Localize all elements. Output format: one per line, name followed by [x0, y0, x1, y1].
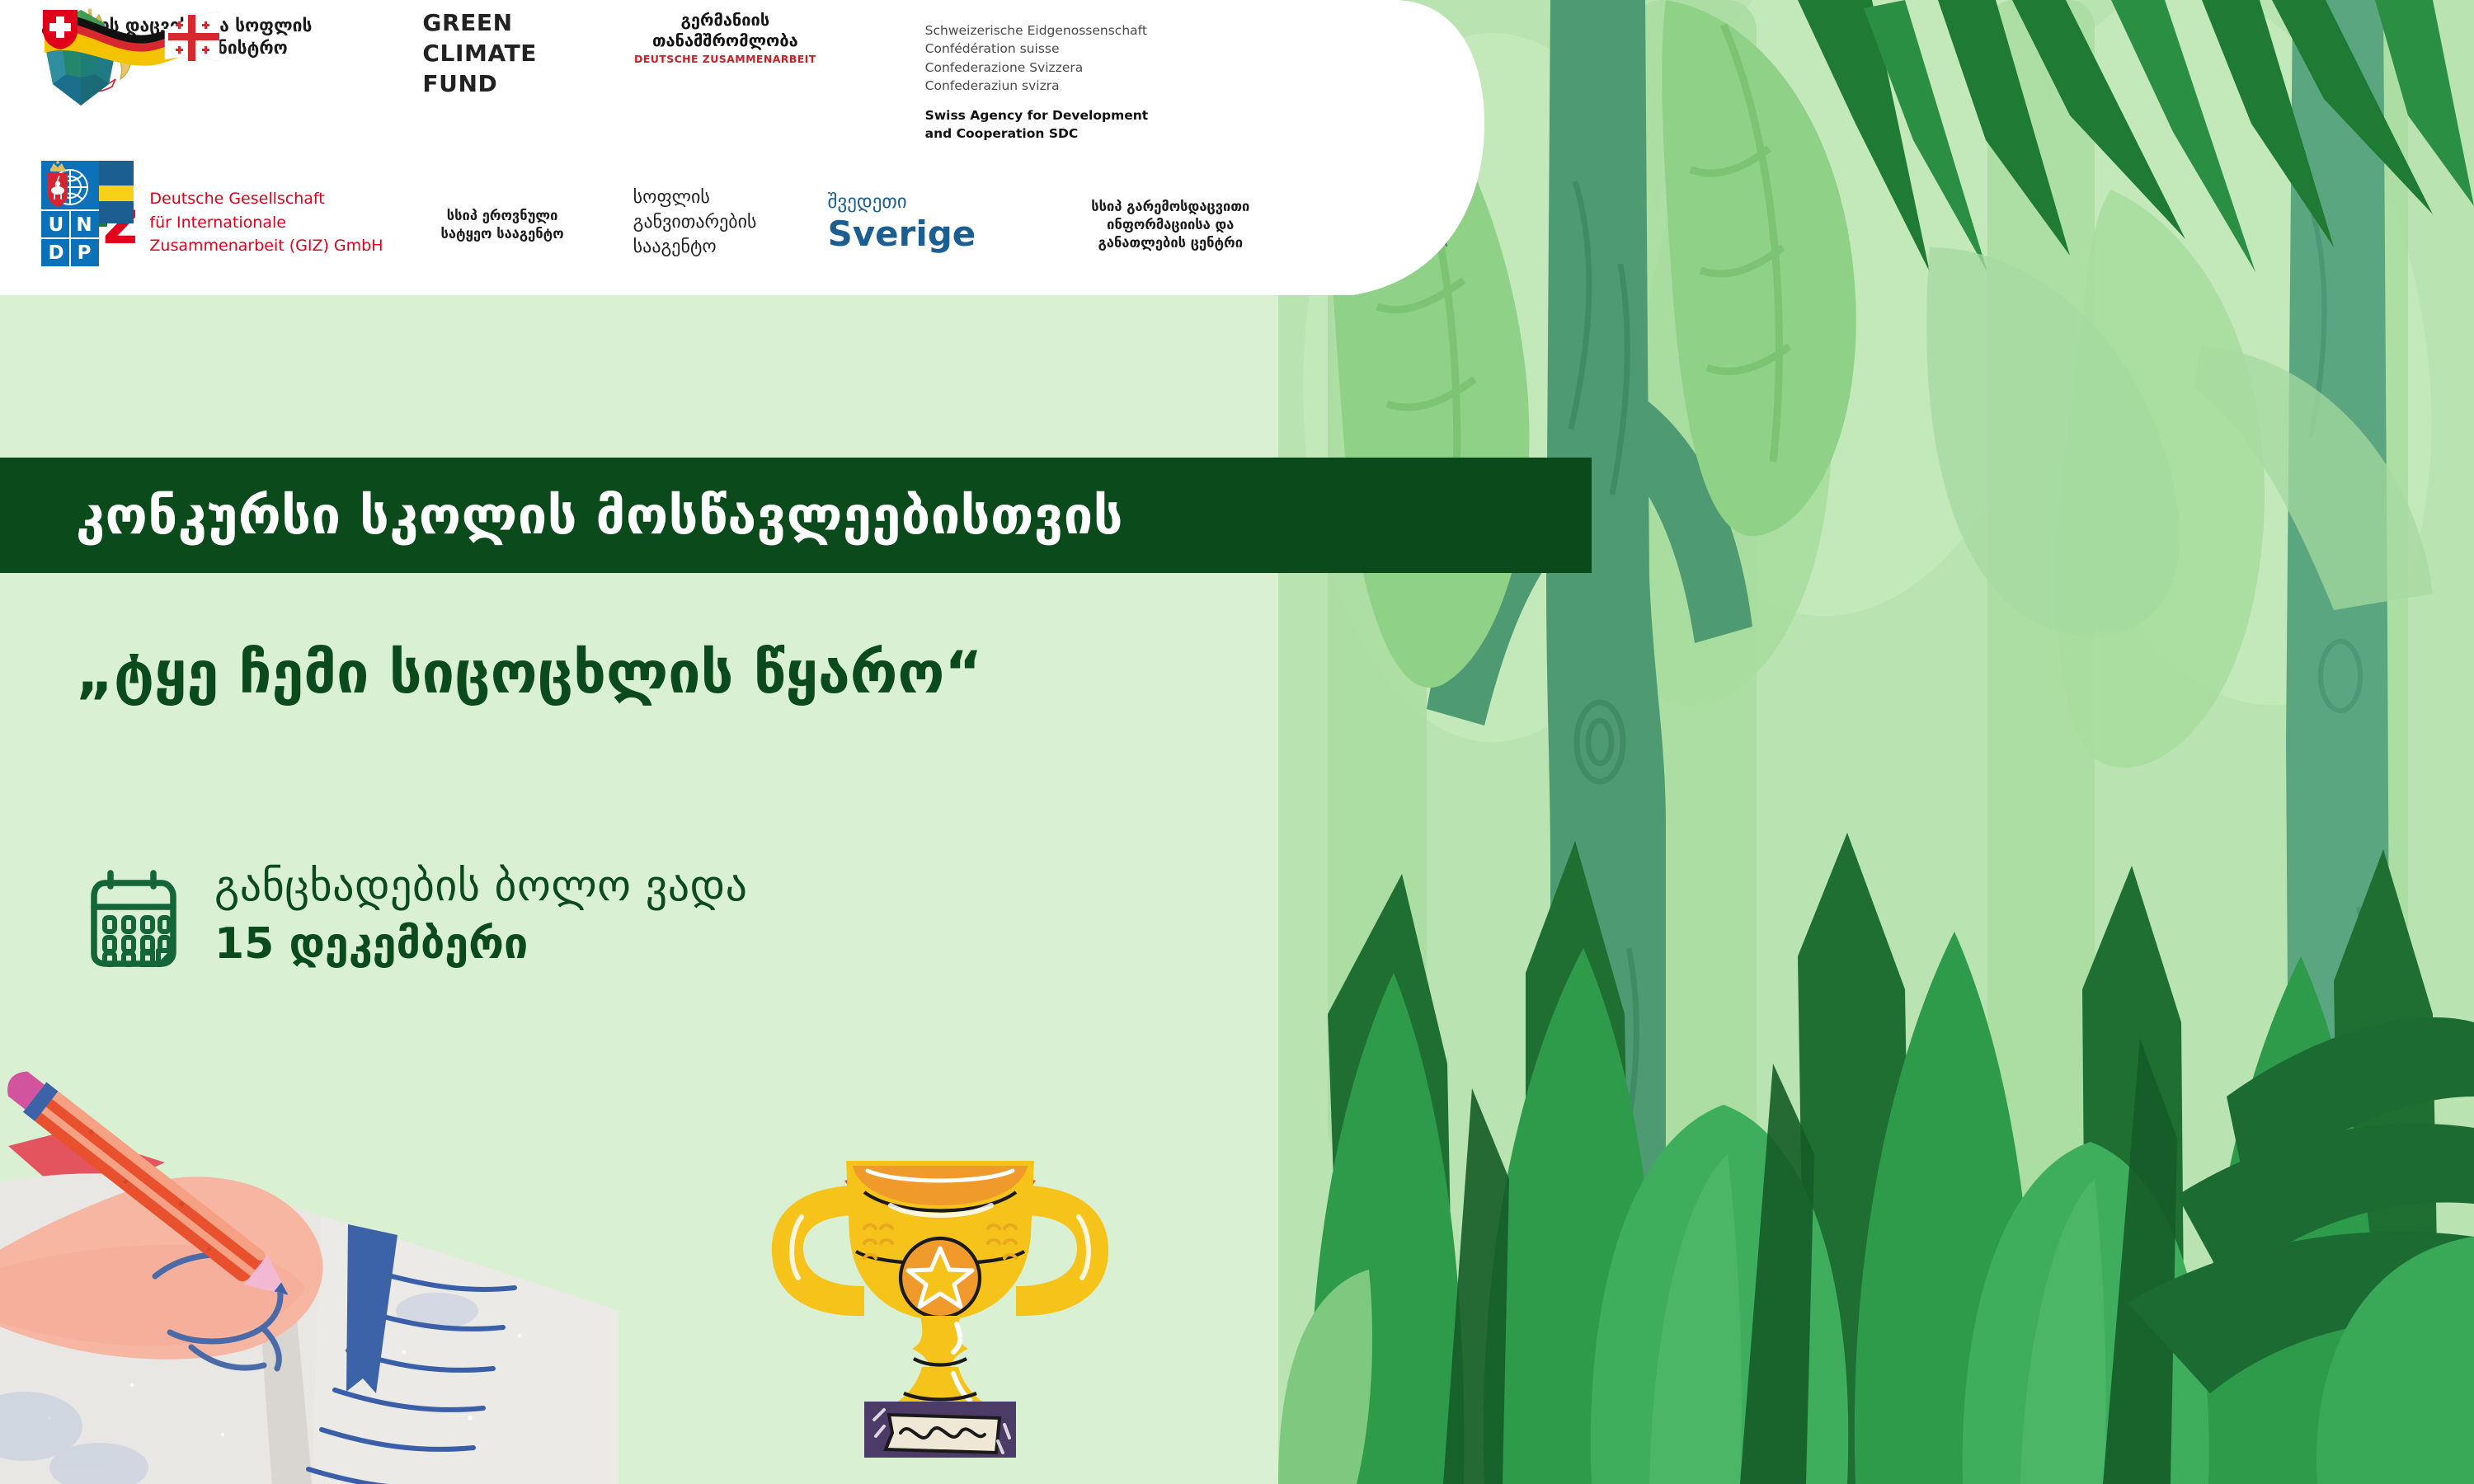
deadline-block: განცხადების ბოლო ვადა 15 დეკემბერი: [89, 862, 748, 970]
logo-sverige-label: შვედეთი Sverige: [828, 192, 976, 252]
competition-title-text: კონკურსი სკოლის მოსწავლეებისთვის: [0, 486, 1123, 546]
hand-writing-illustration: [0, 1039, 618, 1484]
logo-sdc-label: Schweizerische Eidgenossenschaft Confédé…: [925, 21, 1149, 143]
logo-rda-label: სოფლის განვითარების სააგენტო: [633, 185, 757, 259]
logo-row-secondary: giz Deutsche Gesellschaft für Internatio…: [41, 161, 1249, 284]
logo-environmental-info-centre: სსიპ გარემოსდაცვითი ინფორმაციისა და განა…: [1091, 193, 1249, 253]
logo-rural-development-agency: სოფლის განვითარების სააგენტო: [622, 185, 757, 259]
logo-giz-label: Deutsche Gesellschaft für Internationale…: [149, 187, 383, 258]
deadline-label: განცხადების ბოლო ვადა: [214, 862, 748, 911]
svg-text:N: N: [76, 214, 92, 236]
svg-text:P: P: [78, 242, 92, 264]
logo-eiec-label: სსიპ გარემოსდაცვითი ინფორმაციისა და განა…: [1091, 198, 1249, 253]
logo-deutsche-zusammenarbeit: გერმანიის თანამშრომლობა DEUTSCHE ZUSAMME…: [634, 8, 816, 65]
competition-subtitle: „ტყე ჩემი სიცოცხლის წყარო“: [76, 639, 982, 707]
poster-canvas: გარემოს დაცვისა და სოფლის მეურნეობის სამ…: [0, 0, 2474, 1484]
logo-dz-georgian-label: გერმანიის თანამშრომლობა: [652, 10, 798, 51]
deadline-date: 15 დეკემბერი: [214, 919, 748, 969]
svg-text:D: D: [48, 242, 63, 264]
logo-sverige: შვედეთი Sverige: [815, 192, 976, 252]
partner-logos-header: გარემოს დაცვისა და სოფლის მეურნეობის სამ…: [0, 0, 1526, 297]
logo-nfa-label: სსიპ ეროვნული სატყეო სააგენტო: [441, 207, 564, 244]
calendar-icon: [89, 868, 178, 970]
competition-title-banner: კონკურსი სკოლის მოსწავლეებისთვის: [0, 458, 1592, 573]
trophy-illustration: [759, 1146, 1122, 1484]
logo-green-climate-fund: GREEN CLIMATE FUND: [409, 8, 537, 100]
logo-gcf-label: GREEN CLIMATE FUND: [422, 8, 537, 100]
svg-text:U: U: [49, 214, 64, 236]
logo-national-forestry-agency: სსიპ ეროვნული სატყეო სააგენტო: [441, 202, 564, 244]
logo-swiss-agency-sdc: Schweizerische Eidgenossenschaft Confédé…: [914, 8, 1149, 143]
logo-dz-german-label: DEUTSCHE ZUSAMMENARBEIT: [634, 53, 816, 65]
logo-row-primary: გარემოს დაცვისა და სოფლის მეურნეობის სამ…: [41, 8, 1148, 140]
